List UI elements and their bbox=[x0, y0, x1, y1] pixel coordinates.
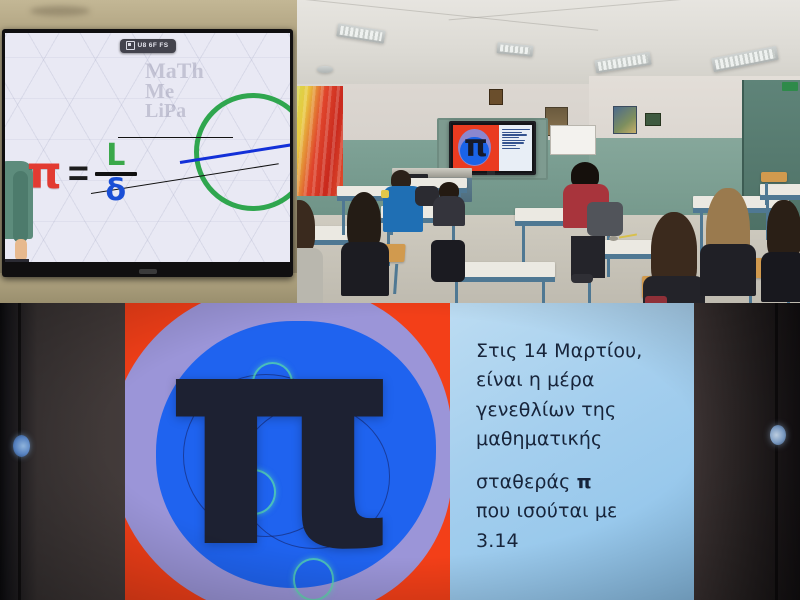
desk-object-eraser bbox=[609, 236, 618, 241]
screen-record-icon bbox=[125, 41, 134, 50]
equals-sign: = bbox=[68, 159, 89, 188]
slide-text-paragraph-4: 3.14 bbox=[476, 527, 686, 556]
wall-small-plaque bbox=[645, 113, 661, 126]
artwork-pi-symbol: π bbox=[163, 323, 394, 557]
leader-line-upper bbox=[118, 137, 233, 138]
small-whiteboard bbox=[550, 125, 596, 155]
wall-below-board bbox=[0, 273, 297, 303]
window-curtain bbox=[297, 86, 343, 196]
ceiling-dome-light bbox=[317, 66, 333, 73]
pi-formula: π = L δ bbox=[27, 141, 137, 206]
presenter-hand bbox=[15, 239, 27, 261]
chair bbox=[761, 172, 787, 182]
screen-stand bbox=[487, 171, 495, 175]
screen-status-label: U8 6F FS bbox=[137, 42, 168, 49]
slide-pi-symbol: π bbox=[464, 132, 488, 162]
exit-sign-icon bbox=[782, 82, 798, 91]
slide-text-paragraph-2: σταθεράς π bbox=[476, 468, 686, 497]
ceiling bbox=[297, 0, 800, 86]
wall-icon-frame bbox=[489, 89, 503, 105]
frame-bevel-right bbox=[775, 303, 778, 600]
whiteboard-screen: MaTh Me LiPa π = L bbox=[5, 33, 290, 262]
panel-classroom-wide: π bbox=[297, 0, 800, 303]
screen-display: π bbox=[453, 125, 532, 171]
panel-projector-closeup: π Στις 14 Μαρτίου, είναι η μέρα γενεθλίω… bbox=[0, 303, 800, 600]
projected-pi-artwork: π bbox=[108, 303, 450, 600]
slide-artwork: π bbox=[453, 125, 499, 171]
wall-mounted-screen: π bbox=[449, 121, 536, 175]
slide-text-pi-symbol: π bbox=[577, 471, 592, 493]
frame-indicator-light-left bbox=[13, 435, 30, 457]
slide-greek-text: Στις 14 Μαρτίου, είναι η μέρα γενεθλίων … bbox=[476, 337, 686, 556]
slide-text-lines bbox=[499, 125, 532, 171]
fraction: L δ bbox=[95, 141, 137, 206]
panel-whiteboard-closeup: MaTh Me LiPa π = L bbox=[0, 0, 297, 303]
pi-symbol: π bbox=[27, 154, 62, 194]
screen-status-badge[interactable]: U8 6F FS bbox=[119, 39, 175, 53]
wall-map bbox=[613, 106, 637, 134]
presenter-arm bbox=[13, 171, 28, 243]
presenter-legs bbox=[5, 259, 29, 262]
wall-above-board bbox=[0, 0, 297, 30]
fraction-denominator: δ bbox=[106, 176, 127, 206]
frame-indicator-light-right bbox=[770, 425, 786, 445]
slide-text-panel: Στις 14 Μαρτίου, είναι η μέρα γενεθλίων … bbox=[450, 303, 700, 600]
slide-text-paragraph-3: που ισούται με bbox=[476, 497, 686, 526]
photo-collage: MaTh Me LiPa π = L bbox=[0, 0, 800, 600]
slide-text-paragraph-2-prefix: σταθεράς bbox=[476, 471, 577, 493]
whiteboard-bezel: MaTh Me LiPa π = L bbox=[2, 29, 293, 277]
fraction-numerator: L bbox=[106, 141, 125, 171]
screen-frame-right bbox=[694, 303, 800, 600]
backpack bbox=[431, 240, 465, 282]
slide-text-paragraph-1: Στις 14 Μαρτίου, είναι η μέρα γενεθλίων … bbox=[476, 337, 686, 455]
